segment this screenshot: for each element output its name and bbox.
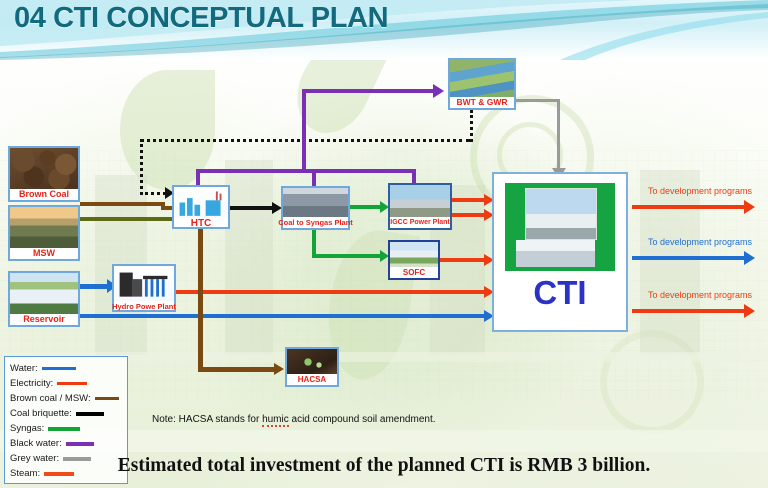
- legend-label: Syngas:: [10, 423, 44, 434]
- node-sofc[interactable]: SOFC: [388, 240, 440, 280]
- legend-swatch-briquette: [76, 412, 104, 416]
- cti-industrial-photo: [505, 183, 615, 271]
- note-suffix: acid compound soil amendment.: [289, 414, 436, 425]
- node-label: MSW: [31, 248, 57, 259]
- edge-briquette-dotted: [470, 110, 473, 142]
- cti-equipment-photo: [516, 240, 595, 266]
- legend-item: Water:: [10, 361, 122, 376]
- edge-blackwater-riser: [302, 89, 306, 173]
- edge-output-2: [632, 256, 748, 260]
- investment-statement: Estimated total investment of the planne…: [118, 455, 651, 477]
- node-label: IGCC Power Plant: [388, 217, 452, 228]
- background-building: [640, 170, 700, 355]
- edge-hydro-cti: [176, 290, 489, 294]
- edge-output-3: [632, 309, 748, 313]
- legend-item: Black water:: [10, 436, 122, 451]
- note-prefix: Note: HACSA stands for: [152, 414, 262, 425]
- node-msw[interactable]: MSW: [8, 205, 80, 261]
- water-treatment-photo: [450, 60, 514, 97]
- node-hacsa[interactable]: HACSA: [285, 347, 339, 387]
- edge-htc-syngas: [229, 206, 277, 210]
- node-label: Coal to Syngas Plant: [276, 217, 355, 228]
- edge-briquette-dotted: [140, 192, 166, 195]
- note-text: Note: HACSA stands for humic acid compou…: [152, 414, 436, 425]
- legend-label: Black water:: [10, 438, 62, 449]
- note-highlight: humic: [262, 414, 289, 427]
- legend-label: Electricity:: [10, 378, 53, 389]
- node-cti[interactable]: CTI: [492, 172, 628, 332]
- output-label-1: To development programs: [648, 186, 752, 196]
- arrowhead-purple: [433, 84, 444, 98]
- legend-swatch-water: [42, 367, 76, 370]
- seedling-soil-photo: [287, 349, 337, 374]
- node-htc[interactable]: HTC: [172, 185, 230, 229]
- node-label: BWT & GWR: [455, 97, 510, 108]
- legend-item: Brown coal / MSW:: [10, 391, 122, 406]
- dam-reservoir-photo: [10, 273, 78, 314]
- footer-band: Estimated total investment of the planne…: [0, 452, 768, 488]
- legend-swatch-browncoal: [95, 397, 119, 400]
- coal-pile-photo: [10, 148, 78, 189]
- edge-browncoal-htc: [80, 202, 165, 206]
- edge-htc-hacsa: [198, 228, 203, 371]
- node-reservoir[interactable]: Reservoir: [8, 271, 80, 327]
- edge-blackwater-bus: [196, 169, 416, 173]
- edge-blackwater-to-bwt: [302, 89, 438, 93]
- legend-swatch-syngas: [48, 427, 80, 431]
- edge-greywater: [516, 99, 560, 102]
- node-label: Hydro Powe Plant: [110, 301, 178, 312]
- slide-canvas: 04 CTI CONCEPTUAL PLAN: [0, 0, 768, 488]
- sofc-plant-photo: [390, 242, 438, 267]
- node-bwt-gwr[interactable]: BWT & GWR: [448, 58, 516, 110]
- edge-sofc-cti: [440, 258, 489, 262]
- edge-htc-hacsa: [198, 367, 278, 372]
- htc-plant-icon: [174, 187, 228, 218]
- legend-swatch-electricity: [57, 382, 87, 385]
- legend-label: Brown coal / MSW:: [10, 393, 91, 404]
- edge-greywater: [557, 99, 560, 171]
- arrowhead-red: [744, 304, 755, 318]
- node-hydro-power-plant[interactable]: Hydro Powe Plant: [112, 264, 176, 312]
- municipal-solid-waste-photo: [10, 207, 78, 248]
- arrowhead-red: [744, 200, 755, 214]
- legend-label: Coal briquette:: [10, 408, 72, 419]
- node-brown-coal[interactable]: Brown Coal: [8, 146, 80, 202]
- node-label: HTC: [189, 218, 214, 229]
- legend-item: Electricity:: [10, 376, 122, 391]
- edge-reservoir-cti: [80, 314, 489, 318]
- edge-output-1: [632, 205, 748, 209]
- arrowhead-blue: [744, 251, 755, 265]
- cti-label: CTI: [533, 275, 586, 311]
- output-label-2: To development programs: [648, 237, 752, 247]
- edge-briquette-dotted: [140, 139, 143, 195]
- cti-plant-photo: [525, 188, 597, 239]
- edge-msw-htc: [80, 217, 175, 221]
- slide-header: 04 CTI CONCEPTUAL PLAN: [0, 0, 768, 60]
- background-building: [225, 160, 273, 355]
- node-label: SOFC: [401, 267, 427, 278]
- arrowhead-brown: [274, 363, 284, 375]
- legend-label: Water:: [10, 363, 38, 374]
- output-label-3: To development programs: [648, 290, 752, 300]
- node-label: Reservoir: [21, 314, 67, 325]
- node-coal-to-syngas-plant[interactable]: Coal to Syngas Plant: [281, 186, 350, 230]
- node-label: HACSA: [296, 374, 328, 385]
- node-label: Brown Coal: [17, 189, 71, 200]
- igcc-power-plant-photo: [390, 185, 450, 217]
- legend-item: Coal briquette:: [10, 406, 122, 421]
- edge-syngas-sofc: [312, 254, 384, 258]
- edge-reservoir-hydro: [80, 284, 110, 289]
- syngas-plant-photo: [283, 188, 348, 217]
- node-igcc-power-plant[interactable]: IGCC Power Plant: [388, 183, 452, 230]
- legend-item: Syngas:: [10, 421, 122, 436]
- page-title: 04 CTI CONCEPTUAL PLAN: [14, 2, 388, 35]
- legend-swatch-blackwater: [66, 442, 94, 446]
- hydro-power-plant-icon: [114, 266, 174, 301]
